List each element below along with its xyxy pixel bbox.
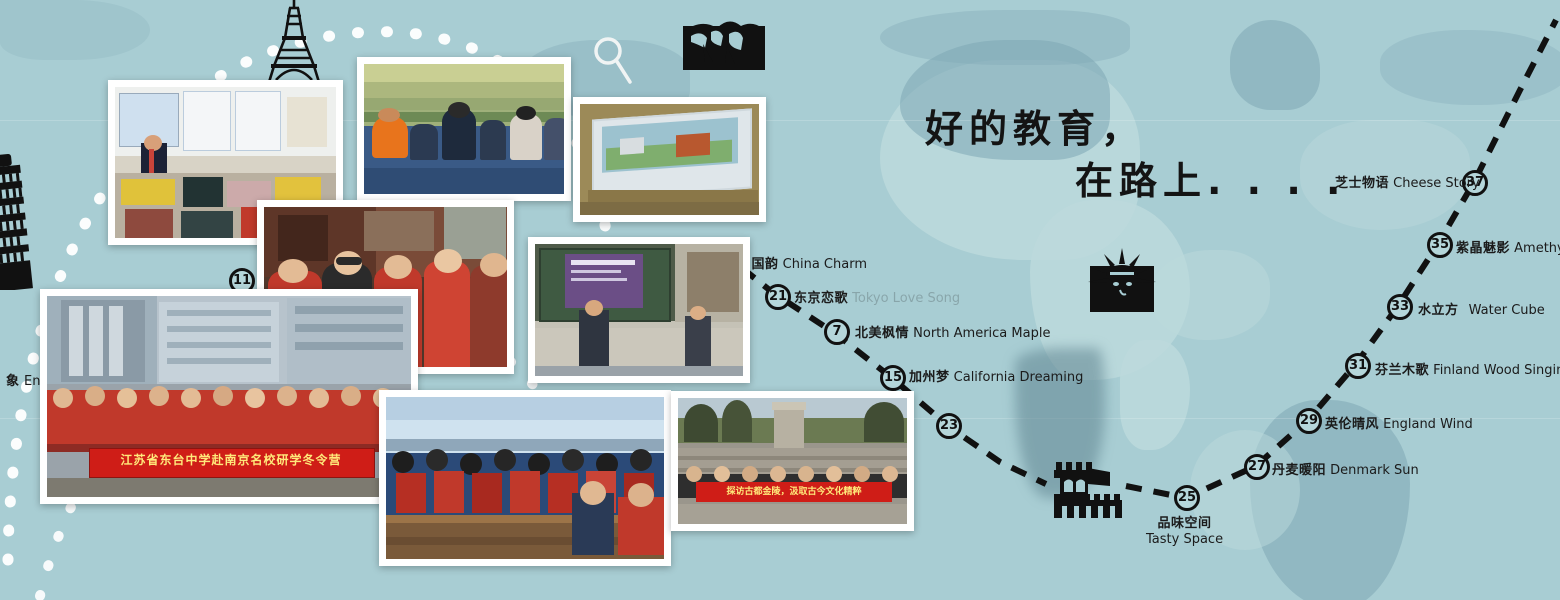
photo-students-outdoor-activity[interactable] xyxy=(357,57,571,201)
route-marker-23[interactable]: 23 xyxy=(936,413,962,439)
route-label-25: 品味空间 Tasty Space xyxy=(1146,516,1223,548)
route-label-25-cn: 品味空间 xyxy=(1146,516,1223,532)
route-label-33-en: Water Cube xyxy=(1469,303,1545,318)
photo-banner-caption-1: 江苏省东台中学赴南京名校研学冬令营 xyxy=(89,451,373,468)
route-label-31-en: Finland Wood Singing xyxy=(1433,363,1560,378)
route-label-china-charm: 中国韵 China Charm xyxy=(738,253,867,272)
mount-rushmore-icon xyxy=(683,18,765,70)
route-marker-29[interactable]: 29 xyxy=(1296,408,1322,434)
route-label-31-cn: 芬兰木歌 xyxy=(1375,363,1429,378)
route-marker-31[interactable]: 31 xyxy=(1345,353,1371,379)
eiffel-tower-icon xyxy=(256,0,332,92)
leaning-tower-of-pisa-icon xyxy=(0,140,44,290)
route-label-37-cn: 芝士物语 xyxy=(1335,176,1389,191)
route-label-7: 北美枫情 North America Maple xyxy=(855,322,1050,341)
castle-icon xyxy=(1050,452,1126,518)
route-label-27-en: Denmark Sun xyxy=(1330,463,1419,478)
route-label-27-cn: 丹麦暖阳 xyxy=(1272,463,1326,478)
route-label-35: 紫晶魅影 Amethyst Ch xyxy=(1456,237,1560,256)
route-marker-7[interactable]: 7 xyxy=(824,319,850,345)
photo-school-steps-group[interactable]: 江苏省东台中学赴南京名校研学冬令营 xyxy=(40,289,418,504)
pin-marker-icon xyxy=(592,36,636,86)
route-label-clipped-left-cn: 象 xyxy=(6,374,20,389)
route-marker-15[interactable]: 15 xyxy=(880,365,906,391)
photo-lecture-hall-speaker[interactable] xyxy=(528,237,750,383)
route-label-25-en: Tasty Space xyxy=(1146,532,1223,548)
route-label-21: 东京恋歌 Tokyo Love Song xyxy=(794,287,960,306)
route-label-clipped-left-en: En xyxy=(24,374,40,389)
route-label-29-cn: 英伦晴风 xyxy=(1325,417,1379,432)
statue-of-liberty-icon xyxy=(1082,244,1162,324)
route-marker-33[interactable]: 33 xyxy=(1387,294,1413,320)
route-label-29-en: England Wind xyxy=(1383,417,1473,432)
route-label-15-cn: 加州梦 xyxy=(909,370,950,385)
route-label-7-en: North America Maple xyxy=(913,326,1050,341)
route-label-15-en: California Dreaming xyxy=(954,370,1084,385)
headline-line-2: 在路上. . . . xyxy=(1075,150,1346,205)
photo-auditorium-audience[interactable] xyxy=(379,390,671,566)
route-marker-27[interactable]: 27 xyxy=(1244,454,1270,480)
route-label-7-cn: 北美枫情 xyxy=(855,326,909,341)
route-marker-25[interactable]: 25 xyxy=(1174,485,1200,511)
route-label-37-en: Cheese Story xyxy=(1393,176,1480,191)
route-label-37: 芝士物语 Cheese Story xyxy=(1335,172,1480,191)
route-label-clipped-left: 象 En xyxy=(6,370,41,389)
route-label-33: 水立方 Water Cube xyxy=(1418,299,1545,318)
headline-line-1: 好的教育， xyxy=(925,98,1145,153)
photo-campus-model-display[interactable] xyxy=(573,97,766,222)
route-label-35-en: Amethyst Ch xyxy=(1514,241,1560,256)
route-label-21-cn: 东京恋歌 xyxy=(794,291,848,306)
route-label-27: 丹麦暖阳 Denmark Sun xyxy=(1272,459,1419,478)
photo-memorial-group-banner[interactable]: 探访古都金陵，汲取古今文化精粹 xyxy=(671,391,914,531)
route-label-china-charm-en: China Charm xyxy=(783,257,867,272)
photo-banner-caption-2: 探访古都金陵，汲取古今文化精粹 xyxy=(696,484,892,497)
route-label-29: 英伦晴风 England Wind xyxy=(1325,413,1473,432)
route-label-21-en: Tokyo Love Song xyxy=(852,291,960,306)
route-label-35-cn: 紫晶魅影 xyxy=(1456,241,1510,256)
route-label-31: 芬兰木歌 Finland Wood Singing xyxy=(1375,359,1560,378)
route-label-15: 加州梦 California Dreaming xyxy=(909,366,1083,385)
route-label-33-cn: 水立方 xyxy=(1418,303,1459,318)
poster-canvas: 好的教育， 在路上. . . . 中国韵 China Charm 象 En 11… xyxy=(0,0,1560,600)
route-marker-35[interactable]: 35 xyxy=(1427,232,1453,258)
route-marker-21[interactable]: 21 xyxy=(765,284,791,310)
